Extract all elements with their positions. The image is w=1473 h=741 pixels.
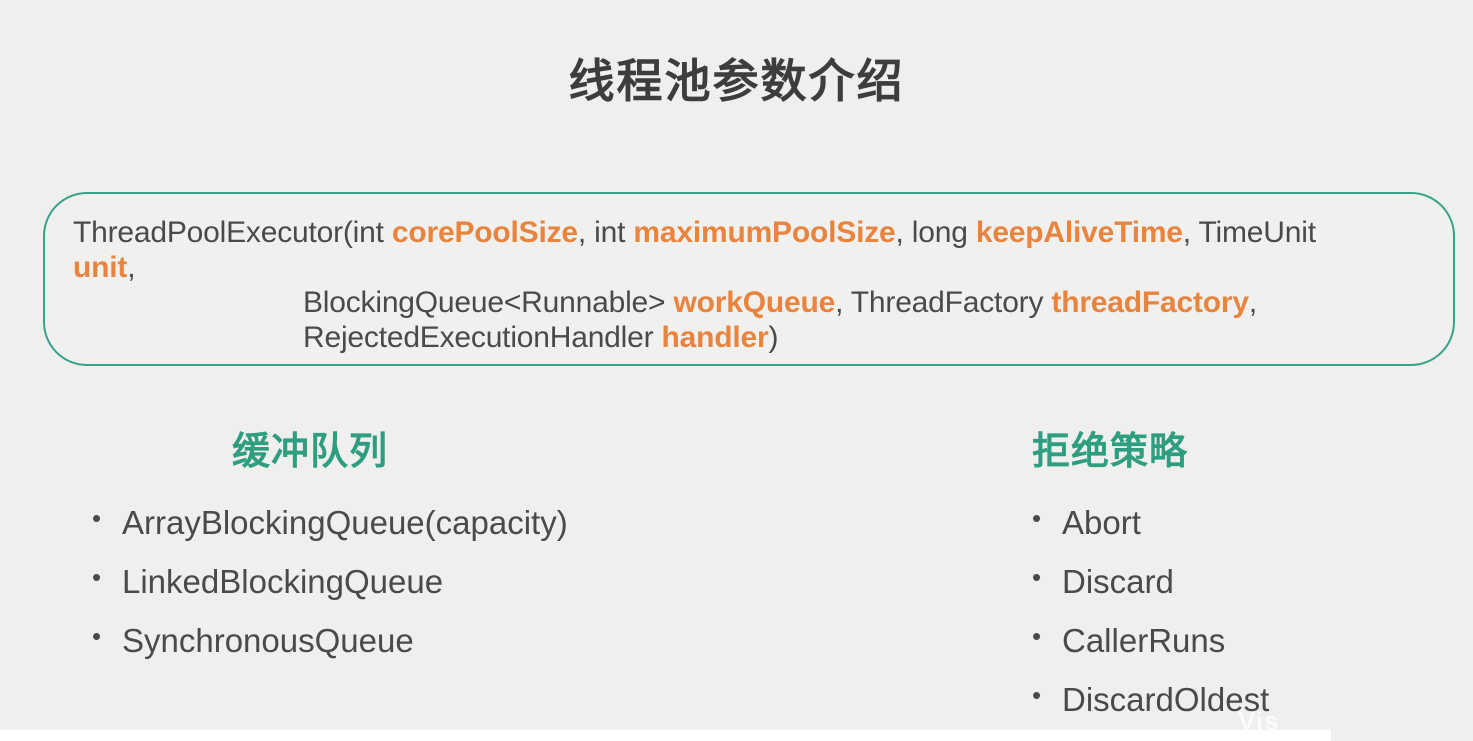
rejection-policy-heading: 拒绝策略	[1032, 432, 1430, 474]
bottom-white-strip	[0, 730, 1331, 741]
signature-text: ,	[127, 251, 135, 284]
signature-text: ThreadPoolExecutor(int	[73, 216, 392, 249]
list-item: Abort	[1030, 506, 1430, 539]
slide-canvas: 线程池参数介绍 ThreadPoolExecutor(int corePoolS…	[0, 0, 1473, 741]
signature-text: )	[769, 321, 779, 354]
signature-line-2: unit,	[73, 251, 135, 285]
list-item: CallerRuns	[1030, 624, 1430, 657]
signature-text: , TimeUnit	[1183, 216, 1316, 249]
param-maximum-pool-size: maximumPoolSize	[633, 216, 895, 249]
buffer-queue-section: 缓冲队列 ArrayBlockingQueue(capacity) Linked…	[90, 432, 710, 683]
signature-text: ,	[1249, 286, 1257, 319]
param-keep-alive-time: keepAliveTime	[976, 216, 1183, 249]
signature-line-1: ThreadPoolExecutor(int corePoolSize, int…	[73, 216, 1316, 250]
buffer-queue-heading: 缓冲队列	[232, 432, 710, 474]
signature-text: BlockingQueue<Runnable>	[303, 286, 673, 319]
method-signature-box: ThreadPoolExecutor(int corePoolSize, int…	[43, 192, 1455, 366]
param-handler: handler	[662, 321, 769, 354]
list-item: ArrayBlockingQueue(capacity)	[90, 506, 710, 539]
param-core-pool-size: corePoolSize	[392, 216, 578, 249]
list-item: DiscardOldest	[1030, 683, 1430, 716]
signature-text: , int	[578, 216, 634, 249]
buffer-queue-list: ArrayBlockingQueue(capacity) LinkedBlock…	[90, 506, 710, 657]
param-work-queue: workQueue	[673, 286, 835, 319]
signature-line-4: RejectedExecutionHandler handler)	[303, 321, 778, 355]
rejection-policy-list: Abort Discard CallerRuns DiscardOldest	[1030, 506, 1430, 716]
signature-text: , ThreadFactory	[835, 286, 1051, 319]
rejection-policy-section: 拒绝策略 Abort Discard CallerRuns DiscardOld…	[1030, 432, 1430, 741]
signature-line-3: BlockingQueue<Runnable> workQueue, Threa…	[303, 286, 1257, 320]
signature-text: , long	[896, 216, 976, 249]
param-thread-factory: threadFactory	[1051, 286, 1248, 319]
list-item: LinkedBlockingQueue	[90, 565, 710, 598]
page-title: 线程池参数介绍	[0, 54, 1473, 109]
param-unit: unit	[73, 251, 127, 284]
list-item: SynchronousQueue	[90, 624, 710, 657]
list-item: Discard	[1030, 565, 1430, 598]
signature-text: RejectedExecutionHandler	[303, 321, 662, 354]
